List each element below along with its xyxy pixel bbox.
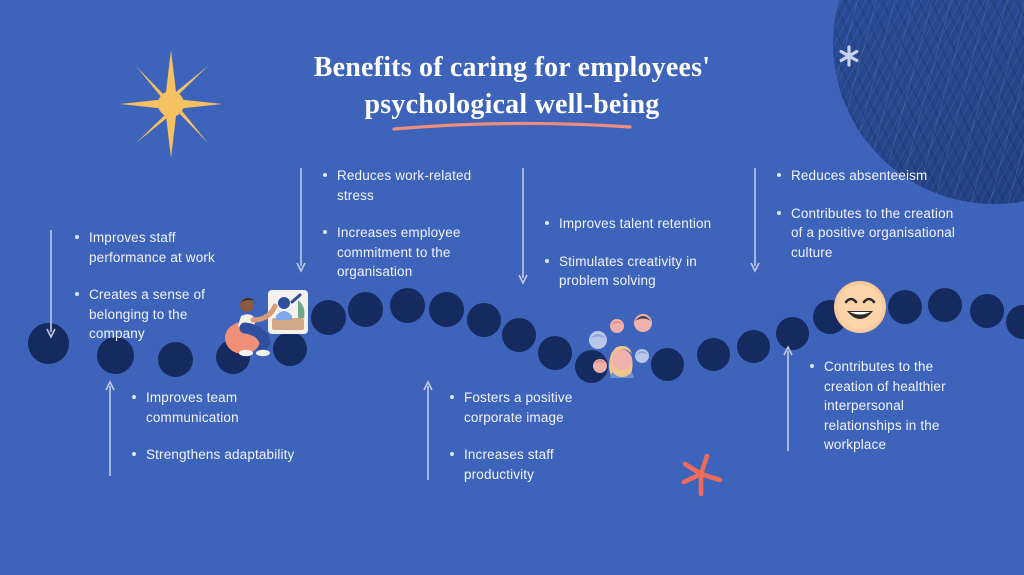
- title-line-1: Benefits of caring for employees': [262, 50, 762, 87]
- arrow-up-icon: [421, 380, 435, 480]
- block-interpersonal-relationships: Contributes to the creation of healthier…: [781, 345, 1001, 455]
- arrow-up-icon: [103, 380, 117, 476]
- block-talent-retention: Improves talent retention Stimulates cre…: [516, 214, 726, 291]
- coral-underline-stroke: [392, 120, 632, 132]
- smiling-face-emoji-icon: [832, 279, 888, 335]
- page-title: Benefits of caring for employees' psycho…: [262, 50, 762, 124]
- wave-dot: [311, 300, 346, 335]
- arrow-down-icon: [44, 230, 58, 340]
- block-staff-performance: Improves staff performance at work Creat…: [44, 228, 244, 344]
- wave-dot: [697, 338, 730, 371]
- bullet-item: Improves staff performance at work: [74, 228, 244, 267]
- bullet-item: Creates a sense of belonging to the comp…: [74, 285, 244, 344]
- infographic-canvas: Benefits of caring for employees' psycho…: [0, 0, 1024, 575]
- bullet-item: Reduces work-related stress: [322, 166, 497, 205]
- wave-dot: [928, 288, 962, 322]
- wave-dot: [970, 294, 1004, 328]
- arrow-down-icon: [516, 168, 530, 286]
- people-group-illustration: [586, 306, 668, 378]
- bullet-item: Stimulates creativity in problem solving: [544, 252, 724, 291]
- wave-dot: [737, 330, 770, 363]
- wave-dot: [158, 342, 193, 377]
- arrow-down-icon: [748, 168, 762, 274]
- arrow-down-icon: [294, 168, 308, 274]
- wave-dot: [348, 292, 383, 327]
- wave-dot: [502, 318, 536, 352]
- starburst-icon: [116, 48, 226, 160]
- bullet-item: Improves talent retention: [544, 214, 724, 234]
- bullet-item: Strengthens adaptability: [131, 445, 311, 465]
- bullet-item: Reduces absenteeism: [776, 166, 966, 186]
- block-reduces-stress: Reduces work-related stress Increases em…: [294, 166, 504, 282]
- wave-dot: [538, 336, 572, 370]
- coral-asterisk-icon: [676, 450, 726, 500]
- block-absenteeism: Reduces absenteeism Contributes to the c…: [748, 166, 978, 262]
- small-asterisk-icon: [836, 43, 862, 69]
- title-line-2: psychological well-being: [262, 87, 762, 124]
- arrow-up-icon: [781, 345, 795, 451]
- bullet-item: Fosters a positive corporate image: [449, 388, 619, 427]
- block-corporate-image: Fosters a positive corporate image Incre…: [421, 380, 631, 484]
- wave-dot: [429, 292, 464, 327]
- wave-dot: [467, 303, 501, 337]
- wave-dot: [888, 290, 922, 324]
- block-team-communication: Improves team communication Strengthens …: [103, 380, 313, 465]
- bullet-item: Improves team communication: [131, 388, 311, 427]
- bullet-item: Contributes to the creation of a positiv…: [776, 204, 966, 263]
- wave-dot: [390, 288, 425, 323]
- bullet-item: Increases employee commitment to the org…: [322, 223, 497, 282]
- wave-dot: [1006, 305, 1024, 339]
- bullet-item: Increases staff productivity: [449, 445, 619, 484]
- bullet-item: Contributes to the creation of healthier…: [809, 357, 974, 455]
